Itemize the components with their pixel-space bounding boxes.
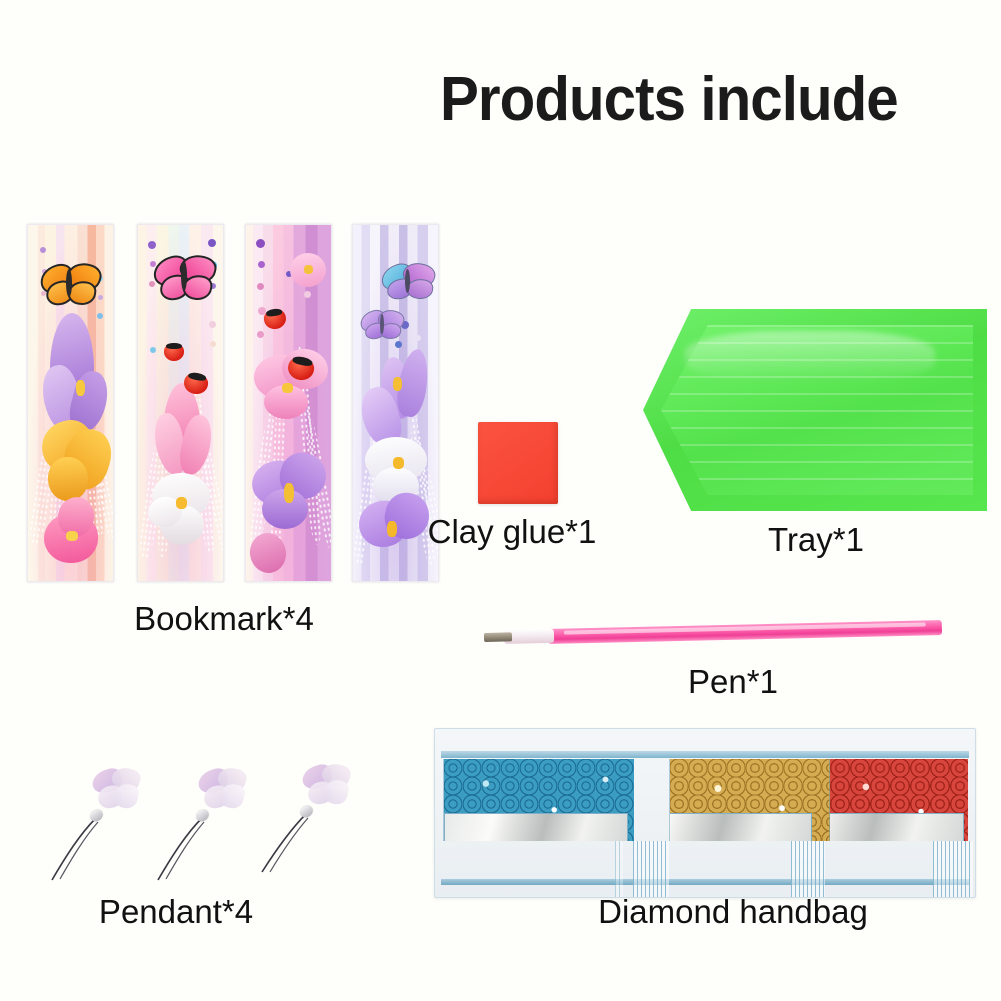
bookmark-label: Bookmark*4 bbox=[134, 600, 314, 638]
bead bbox=[208, 239, 216, 247]
flower-stamen bbox=[393, 377, 402, 391]
flower-stamen bbox=[284, 483, 294, 503]
bead bbox=[415, 335, 421, 341]
bag-rail bbox=[933, 841, 973, 897]
bead bbox=[210, 341, 216, 347]
bead bbox=[97, 313, 103, 319]
tray-image bbox=[640, 305, 990, 515]
butterfly bbox=[152, 251, 214, 301]
bead bbox=[209, 321, 216, 328]
bag-zip-bottom bbox=[441, 879, 969, 885]
pen-label: Pen*1 bbox=[688, 663, 778, 701]
flower-stamen bbox=[387, 521, 397, 537]
clay-glue-swatch bbox=[478, 422, 558, 504]
bead bbox=[395, 341, 402, 348]
gem-compartment-gold bbox=[669, 759, 830, 841]
bead bbox=[257, 331, 264, 338]
flower-stamen bbox=[66, 531, 78, 541]
foil-strip bbox=[669, 813, 812, 841]
diamond-handbag-label: Diamond handbag bbox=[598, 893, 868, 931]
ladybug bbox=[164, 343, 184, 361]
gem-compartment-teal bbox=[443, 759, 634, 841]
bookmark-1 bbox=[27, 224, 114, 582]
flower-stamen bbox=[282, 383, 293, 393]
product-image-canvas: Products include bbox=[0, 0, 1001, 1001]
bag-rail bbox=[791, 841, 825, 897]
bead bbox=[304, 291, 311, 298]
gem-compartment-red bbox=[829, 759, 968, 841]
pendant-label: Pendant*4 bbox=[99, 893, 253, 931]
pendant-2 bbox=[146, 748, 256, 883]
tray-highlight bbox=[685, 331, 935, 383]
butterfly-body bbox=[380, 314, 384, 334]
butterfly bbox=[379, 263, 435, 301]
flower-stamen bbox=[176, 497, 187, 509]
bead bbox=[257, 283, 264, 290]
butterfly bbox=[359, 309, 403, 341]
bag-rail bbox=[615, 841, 623, 897]
pen-image bbox=[470, 612, 950, 656]
flower-stamen bbox=[76, 380, 85, 396]
flower-stamen bbox=[304, 265, 313, 274]
bead bbox=[40, 247, 46, 253]
bag-rail bbox=[633, 841, 669, 897]
diamond-handbag-image bbox=[434, 728, 976, 898]
bead bbox=[148, 241, 156, 249]
bag-zip-top bbox=[441, 751, 969, 758]
bookmark-4 bbox=[352, 224, 439, 582]
bead bbox=[258, 261, 265, 268]
butterfly-body bbox=[405, 269, 410, 293]
butterfly bbox=[38, 261, 100, 305]
butterfly-body bbox=[181, 261, 187, 291]
bookmark-2 bbox=[137, 224, 224, 582]
foil-strip bbox=[829, 813, 964, 841]
tray-label: Tray*1 bbox=[768, 521, 864, 559]
bead bbox=[256, 239, 265, 248]
pendant-1 bbox=[40, 748, 150, 883]
page-title: Products include bbox=[440, 63, 981, 137]
flower-stamen bbox=[393, 457, 404, 469]
butterfly-body bbox=[66, 269, 72, 297]
clay-glue-label: Clay glue*1 bbox=[428, 513, 597, 551]
bookmark-3 bbox=[245, 224, 332, 582]
pen-tip bbox=[484, 632, 512, 642]
pendant-3 bbox=[252, 744, 362, 879]
pen-barrel bbox=[548, 620, 942, 644]
foil-strip bbox=[444, 813, 628, 841]
bead bbox=[150, 347, 156, 353]
